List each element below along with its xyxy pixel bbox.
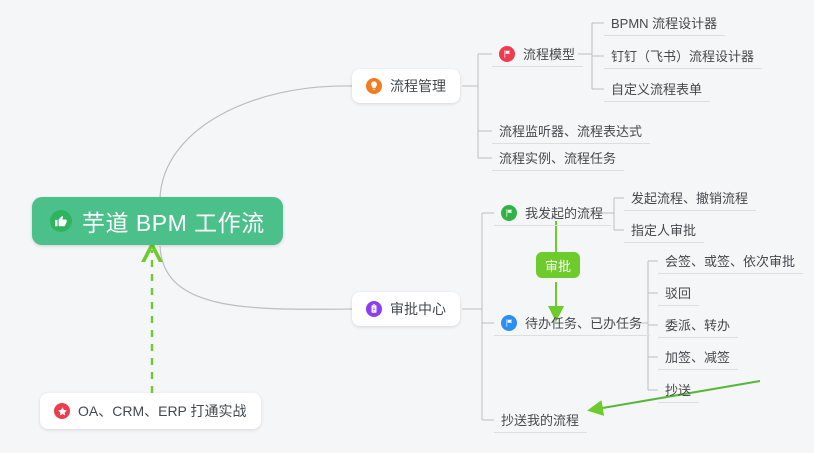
- approval-tag[interactable]: 审批: [536, 252, 580, 278]
- node-process-model[interactable]: 流程模型: [492, 41, 583, 67]
- root-label: 芋道 BPM 工作流: [82, 204, 265, 238]
- leaf-label: 发起流程、撤销流程: [631, 188, 748, 207]
- lightbulb-icon: [366, 78, 382, 94]
- leaf-label: 驳回: [665, 283, 691, 302]
- node-label: 流程模型: [523, 44, 575, 63]
- node-integration-practice[interactable]: OA、CRM、ERP 打通实战: [40, 393, 261, 429]
- leaf-process-listener[interactable]: 流程监听器、流程表达式: [492, 118, 650, 144]
- leaf-process-instance[interactable]: 流程实例、流程任务: [492, 145, 624, 171]
- leaf-reject[interactable]: 驳回: [658, 280, 699, 306]
- leaf-label: 抄送我的流程: [501, 410, 579, 429]
- branch-label: 审批中心: [390, 299, 446, 319]
- leaf-assigned-approver[interactable]: 指定人审批: [624, 217, 704, 243]
- flag-icon: [501, 205, 517, 221]
- branch-label: 流程管理: [390, 76, 446, 96]
- leaf-start-cancel-process[interactable]: 发起流程、撤销流程: [624, 185, 756, 211]
- leaf-bpmn-designer[interactable]: BPMN 流程设计器: [604, 10, 725, 36]
- mindmap-canvas: 芋道 BPM 工作流 流程管理 流程模型 BPMN 流程设计器 钉钉（飞书）流程…: [0, 0, 814, 453]
- node-my-started-process[interactable]: 我发起的流程: [494, 200, 611, 226]
- leaf-label: 委派、转办: [665, 315, 730, 334]
- star-icon: [54, 403, 70, 419]
- node-todo-done-tasks[interactable]: 待办任务、已办任务: [494, 310, 650, 336]
- leaf-countersign[interactable]: 会签、或签、依次审批: [658, 248, 803, 274]
- leaf-cc-to-me[interactable]: 抄送我的流程: [494, 407, 587, 433]
- leaf-custom-form[interactable]: 自定义流程表单: [604, 76, 710, 102]
- flag-icon: [501, 315, 517, 331]
- branch-approval-center[interactable]: 审批中心: [352, 292, 460, 326]
- thumbs-up-icon: [50, 210, 72, 232]
- clipboard-icon: [366, 301, 382, 317]
- leaf-cc[interactable]: 抄送: [658, 377, 699, 403]
- leaf-label: 流程实例、流程任务: [499, 148, 616, 167]
- leaf-label: 自定义流程表单: [611, 79, 702, 98]
- flag-icon: [499, 46, 515, 62]
- node-label: 我发起的流程: [525, 203, 603, 222]
- leaf-label: 会签、或签、依次审批: [665, 251, 795, 270]
- leaf-add-remove-sign[interactable]: 加签、减签: [658, 344, 738, 370]
- node-label: 待办任务、已办任务: [525, 313, 642, 332]
- branch-process-management[interactable]: 流程管理: [352, 69, 460, 103]
- node-label: OA、CRM、ERP 打通实战: [78, 401, 247, 421]
- link-root-to-process-management: [160, 86, 352, 198]
- link-root-to-approval-center: [160, 246, 352, 309]
- leaf-label: 流程监听器、流程表达式: [499, 121, 642, 140]
- leaf-dingtalk-designer[interactable]: 钉钉（飞书）流程设计器: [604, 43, 762, 69]
- leaf-delegate-transfer[interactable]: 委派、转办: [658, 312, 738, 338]
- leaf-label: 钉钉（飞书）流程设计器: [611, 46, 754, 65]
- root-node[interactable]: 芋道 BPM 工作流: [32, 197, 283, 245]
- leaf-label: 抄送: [665, 380, 691, 399]
- leaf-label: BPMN 流程设计器: [611, 13, 717, 32]
- leaf-label: 加签、减签: [665, 347, 730, 366]
- leaf-label: 指定人审批: [631, 220, 696, 239]
- approval-tag-label: 审批: [545, 256, 571, 275]
